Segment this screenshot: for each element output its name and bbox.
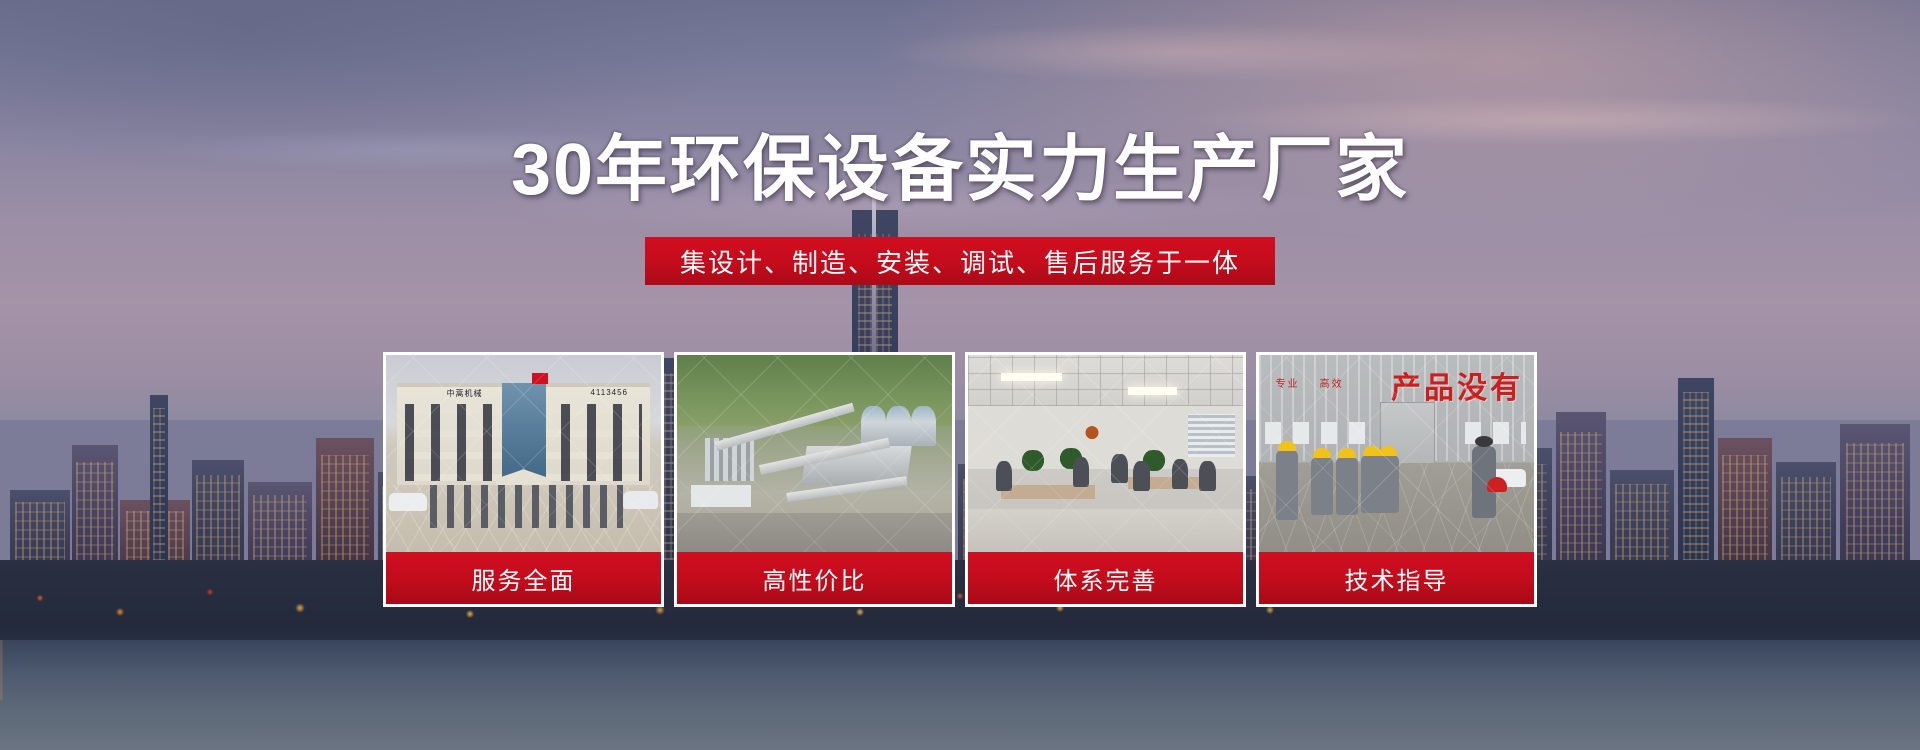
- card-label-guidance: 技术指导: [1259, 552, 1534, 604]
- card-photo-office-interior: [968, 355, 1243, 552]
- subtitle-text: 集设计、制造、安装、调试、售后服务于一体: [680, 243, 1240, 280]
- photo-phone-text: 4113456: [590, 388, 628, 397]
- feature-card-system[interactable]: 体系完善: [965, 352, 1246, 607]
- photo-logo-text: 中蒿机械: [447, 388, 483, 399]
- feature-card-value[interactable]: 高性价比: [674, 352, 955, 607]
- hero-banner: 30年环保设备实力生产厂家 集设计、制造、安装、调试、售后服务于一体 中蒿机械 …: [0, 0, 1920, 750]
- card-photo-factory-yard: 产品没有 专业 高效: [1259, 355, 1534, 552]
- feature-card-guidance[interactable]: 产品没有 专业 高效 技术指导: [1256, 352, 1537, 607]
- card-photo-industrial-plant: [677, 355, 952, 552]
- photo-wall-slogan: 产品没有: [1391, 363, 1523, 407]
- page-title: 30年环保设备实力生产厂家: [0, 110, 1920, 215]
- feature-card-list: 中蒿机械 4113456 服务全面: [383, 352, 1537, 607]
- card-photo-company-building: 中蒿机械 4113456: [386, 355, 661, 552]
- card-label-system: 体系完善: [968, 552, 1243, 604]
- photo-wall-slogan-small-2: 高效: [1320, 375, 1344, 390]
- photo-wall-slogan-small-1: 专业: [1276, 375, 1300, 390]
- card-label-service: 服务全面: [386, 552, 661, 604]
- subtitle-banner: 集设计、制造、安装、调试、售后服务于一体: [645, 237, 1275, 285]
- card-label-value: 高性价比: [677, 552, 952, 604]
- river-water: [0, 640, 1920, 750]
- feature-card-service[interactable]: 中蒿机械 4113456 服务全面: [383, 352, 664, 607]
